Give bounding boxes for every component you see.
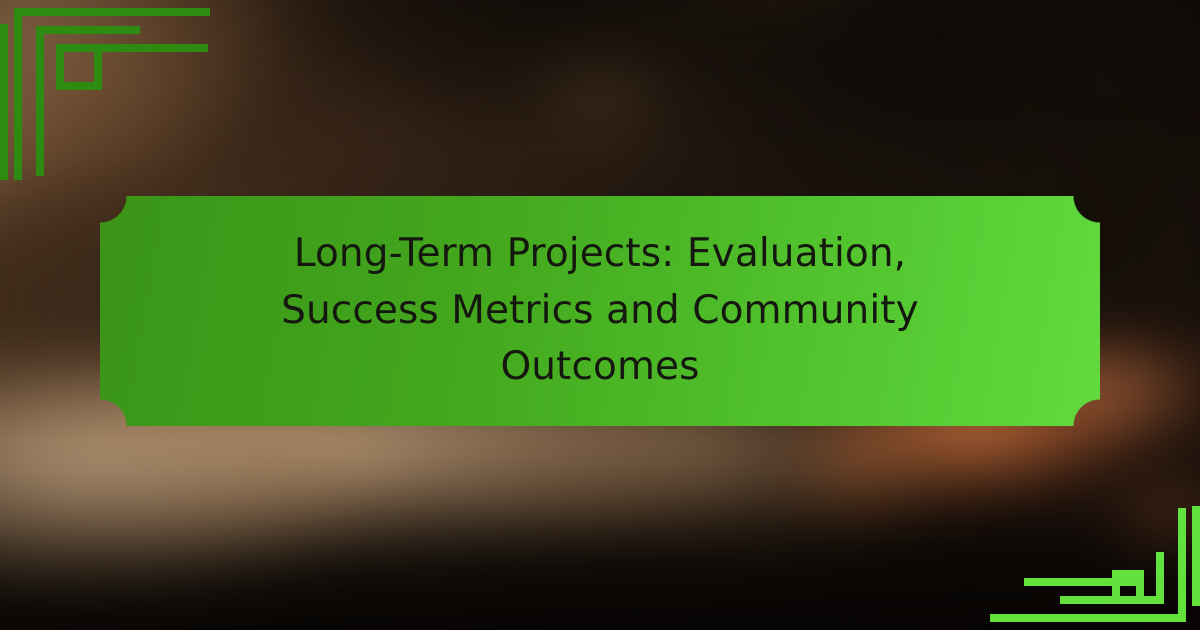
page-title: Long-Term Projects: Evaluation, Success … — [250, 226, 950, 396]
ornament-line-horizontal-outer — [14, 8, 210, 16]
ornament-line-vertical-third — [1156, 552, 1164, 604]
ornament-line-vertical-outer — [1192, 506, 1200, 606]
ornament-line-vertical-second — [14, 8, 22, 180]
ornament-square-left-side — [1112, 570, 1120, 604]
ornament-line-vertical-outer — [0, 24, 8, 180]
corner-ornament-bottom-right — [990, 500, 1200, 630]
ornament-line-horizontal-tail — [128, 44, 208, 52]
title-card: Long-Term Projects: Evaluation, Success … — [100, 196, 1100, 426]
share-card-canvas: Long-Term Projects: Evaluation, Success … — [0, 0, 1200, 630]
ornament-line-vertical-third — [36, 26, 44, 176]
ornament-line-horizontal-third — [1024, 578, 1144, 586]
ornament-square-right-side — [94, 44, 102, 90]
ornament-line-horizontal-second — [36, 26, 140, 34]
corner-ornament-top-left — [0, 0, 210, 190]
ornament-line-horizontal-outer — [990, 614, 1186, 622]
ornament-line-vertical-second — [1178, 508, 1186, 622]
